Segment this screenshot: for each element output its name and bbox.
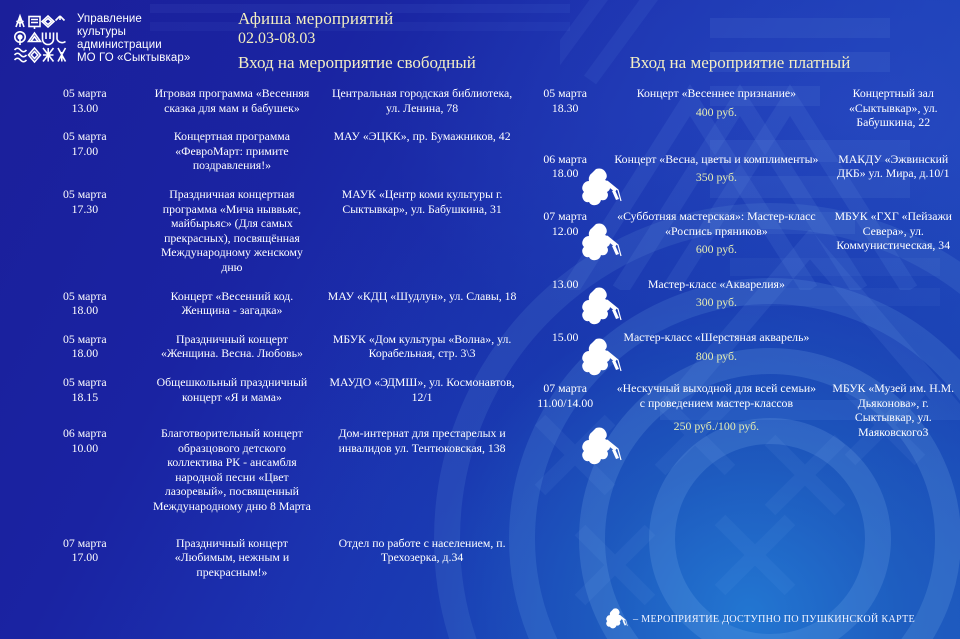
pushkin-card-icon — [582, 166, 622, 210]
event-date: 05 марта — [30, 129, 140, 144]
paid-column-heading: Вход на мероприятие платный — [520, 52, 960, 74]
event-time: 10.00 — [30, 441, 140, 456]
event-title: Игровая программа «Весенняя сказка для м… — [146, 86, 319, 115]
paid-event-row: 13.00Мастер-класс «Акварелия»300 руб. — [520, 277, 960, 310]
event-date: 06 марта — [30, 426, 140, 441]
event-title: Концерт «Весенний код. Женщина - загадка… — [146, 289, 319, 318]
event-venue — [823, 330, 960, 363]
event-title: Концерт «Весеннее признание» — [637, 86, 796, 100]
free-event-row: 06 марта10.00Благотворительный концерт о… — [30, 426, 520, 514]
pushkin-card-icon — [582, 166, 622, 210]
event-price: 800 руб. — [614, 349, 818, 364]
pushkin-card-legend-text: – МЕРОПРИЯТИЕ ДОСТУПНО ПО ПУШКИНСКОЙ КАР… — [633, 614, 915, 625]
event-title-price: Концерт «Весна, цветы и комплименты»350 … — [610, 152, 822, 185]
komi-ornament-logo-icon — [12, 12, 68, 66]
event-venue: МАУК «Центр коми культуры г. Сыктывкар»,… — [318, 187, 520, 275]
event-venue: МБУК «Дом культуры «Волна», ул. Корабель… — [318, 332, 520, 361]
event-venue: МАУ «ЭЦКК», пр. Бумажников, 42 — [318, 129, 520, 173]
event-title: «Нескучный выходной для всей семьи» с пр… — [617, 381, 816, 410]
event-title-price: «Нескучный выходной для всей семьи» с пр… — [610, 381, 822, 439]
org-name-line: МО ГО «Сыктывкар» — [77, 52, 190, 65]
paid-event-row: 06 марта18.00Концерт «Весна, цветы и ком… — [520, 152, 960, 185]
event-venue: МАУ «КДЦ «Шудлун», ул. Славы, 18 — [318, 289, 520, 318]
pushkin-card-icon — [582, 425, 622, 469]
free-event-row: 05 марта18.00Праздничный концерт «Женщин… — [30, 332, 520, 361]
event-price: 350 руб. — [614, 170, 818, 185]
event-title: Праздничный концерт «Любимым, нежным и п… — [146, 536, 319, 580]
event-time: 11.00/14.00 — [520, 396, 610, 411]
event-title-price: Концерт «Весеннее признание»400 руб. — [610, 86, 822, 130]
event-datetime: 07 марта17.00 — [30, 536, 146, 580]
event-datetime: 05 марта18.30 — [520, 86, 610, 130]
event-date: 05 марта — [520, 86, 610, 101]
event-venue: МБУК «Музей им. Н.М. Дьяконова», г. Сыкт… — [823, 381, 960, 439]
pushkin-card-icon — [582, 336, 622, 380]
event-time: 17.30 — [30, 202, 140, 217]
pushkin-card-icon — [582, 425, 622, 469]
event-date: 05 марта — [30, 332, 140, 347]
event-title: Праздничный концерт «Женщина. Весна. Люб… — [146, 332, 319, 361]
date-range: 02.03-08.03 — [238, 29, 315, 49]
pushkin-card-icon — [582, 285, 622, 329]
pushkin-card-icon — [606, 607, 628, 631]
free-event-row: 05 марта18.00Концерт «Весенний код. Женщ… — [30, 289, 520, 318]
free-event-row: 05 марта17.30Праздничная концертная прог… — [30, 187, 520, 275]
event-title: Мастер-класс «Шерстяная акварель» — [623, 330, 809, 344]
event-price: 250 руб./100 руб. — [614, 419, 818, 434]
event-date: 05 марта — [30, 375, 140, 390]
pushkin-card-icon — [582, 221, 622, 265]
paid-events-list: 05 марта18.30Концерт «Весеннее признание… — [520, 86, 960, 450]
event-venue: Дом-интернат для престарелых и инвалидов… — [318, 426, 520, 514]
org-name-line: администрации — [77, 39, 190, 52]
pushkin-card-legend: – МЕРОПРИЯТИЕ ДОСТУПНО ПО ПУШКИНСКОЙ КАР… — [606, 607, 915, 631]
event-title: Праздничная концертная программа «Мича н… — [146, 187, 319, 275]
event-title: Общешкольный праздничный концерт «Я и ма… — [146, 375, 319, 404]
event-title-price: Мастер-класс «Шерстяная акварель»800 руб… — [610, 330, 822, 363]
event-datetime: 06 марта10.00 — [30, 426, 146, 514]
paid-event-row: 07 марта11.00/14.00«Нескучный выходной д… — [520, 381, 960, 439]
event-venue: МАКДУ «Эжвинский ДКБ» ул. Мира, д.10/1 — [823, 152, 960, 185]
pushkin-card-icon — [582, 285, 622, 329]
event-datetime: 05 марта18.00 — [30, 289, 146, 318]
event-title-price: «Субботняя мастерская»: Мастер-класс «Ро… — [610, 209, 822, 257]
event-title: Концерт «Весна, цветы и комплименты» — [614, 152, 818, 166]
event-time: 13.00 — [30, 101, 140, 116]
event-datetime: 05 марта17.00 — [30, 129, 146, 173]
event-price: 600 руб. — [614, 242, 818, 257]
event-datetime: 05 марта17.30 — [30, 187, 146, 275]
event-time: 18.30 — [520, 101, 610, 116]
page-title: Афиша мероприятий — [238, 8, 393, 29]
free-event-row: 05 марта17.00Концертная программа «Февро… — [30, 129, 520, 173]
event-venue — [823, 277, 960, 310]
event-date: 07 марта — [30, 536, 140, 551]
free-event-row: 05 марта13.00Игровая программа «Весенняя… — [30, 86, 520, 115]
event-venue: Центральная городская библиотека, ул. Ле… — [318, 86, 520, 115]
event-venue: Отдел по работе с населением, п. Трехозе… — [318, 536, 520, 580]
event-time: 18.00 — [30, 346, 140, 361]
event-time: 18.00 — [30, 303, 140, 318]
event-date: 05 марта — [30, 289, 140, 304]
paid-event-row: 15.00Мастер-класс «Шерстяная акварель»80… — [520, 330, 960, 363]
pushkin-card-icon — [582, 221, 622, 265]
event-date: 05 марта — [30, 187, 140, 202]
org-name-line: культуры — [77, 26, 190, 39]
event-date: 07 марта — [520, 381, 610, 396]
pushkin-card-icon — [582, 336, 622, 380]
event-price: 400 руб. — [614, 105, 818, 120]
event-date: 06 марта — [520, 152, 610, 167]
event-poster: Управление культуры администрации МО ГО … — [0, 0, 960, 639]
event-venue: МБУК «ГХГ «Пейзажи Севера», ул. Коммунис… — [823, 209, 960, 257]
event-venue: Концертный зал «Сыктывкар», ул. Бабушкин… — [823, 86, 960, 130]
event-datetime: 05 марта13.00 — [30, 86, 146, 115]
event-time: 17.00 — [30, 550, 140, 565]
event-title: Концертная программа «ФевроМарт: примите… — [146, 129, 319, 173]
free-event-row: 05 марта18.15Общешкольный праздничный ко… — [30, 375, 520, 404]
event-title: Благотворительный концерт образцового де… — [146, 426, 319, 514]
event-datetime: 05 марта18.00 — [30, 332, 146, 361]
event-date: 05 марта — [30, 86, 140, 101]
paid-event-row: 07 марта12.00«Субботняя мастерская»: Мас… — [520, 209, 960, 257]
free-events-list: 05 марта13.00Игровая программа «Весенняя… — [30, 86, 520, 593]
org-name-line: Управление — [77, 13, 190, 26]
org-name: Управление культуры администрации МО ГО … — [77, 13, 190, 66]
org-logo: Управление культуры администрации МО ГО … — [12, 12, 190, 66]
event-time: 17.00 — [30, 144, 140, 159]
event-title: «Субботняя мастерская»: Мастер-класс «Ро… — [617, 209, 815, 238]
event-price: 300 руб. — [614, 295, 818, 310]
event-title-price: Мастер-класс «Акварелия»300 руб. — [610, 277, 822, 310]
event-title: Мастер-класс «Акварелия» — [648, 277, 785, 291]
paid-event-row: 05 марта18.30Концерт «Весеннее признание… — [520, 86, 960, 130]
free-column-heading: Вход на мероприятие свободный — [238, 52, 476, 74]
event-venue: МАУДО «ЭДМШ», ул. Космонавтов, 12/1 — [318, 375, 520, 404]
free-event-row: 07 марта17.00Праздничный концерт «Любимы… — [30, 536, 520, 580]
event-time: 18.15 — [30, 390, 140, 405]
event-datetime: 05 марта18.15 — [30, 375, 146, 404]
